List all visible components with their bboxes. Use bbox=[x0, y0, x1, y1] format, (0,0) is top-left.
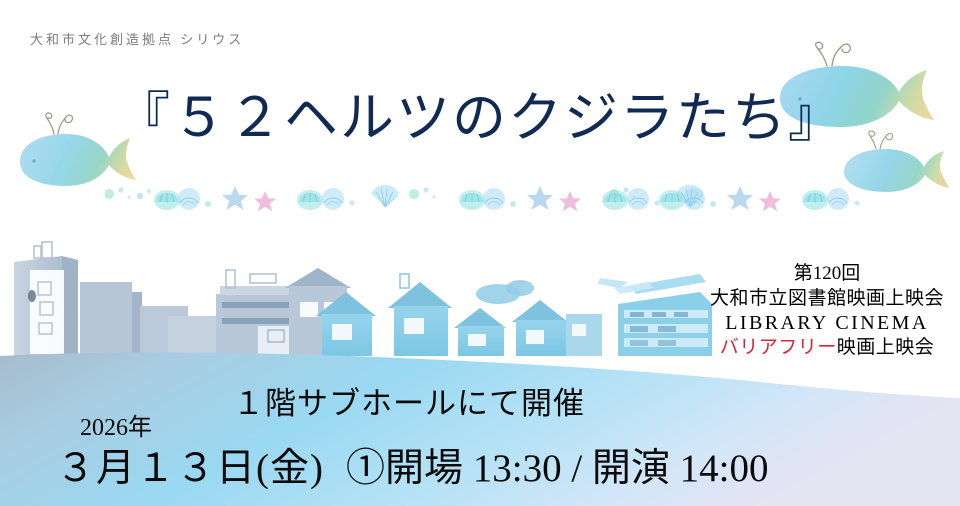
event-showtime: ①開場 13:30 / 開演 14:00 bbox=[346, 447, 769, 490]
series-edition: 第120回 bbox=[698, 264, 956, 283]
barrier-free-line: バリアフリー映画上映会 bbox=[698, 338, 956, 357]
series-info-block: 第120回 大和市立図書館映画上映会 LIBRARY CINEMA バリアフリー… bbox=[698, 264, 956, 357]
barrier-free-label: バリアフリー bbox=[720, 337, 837, 358]
event-poster: 大和市文化創造拠点 シリウス bbox=[0, 0, 960, 506]
organisation-name: 大和市文化創造拠点 シリウス bbox=[30, 29, 244, 48]
event-date: ３月１３日(金) bbox=[56, 447, 324, 490]
barrier-free-suffix: 映画上映会 bbox=[837, 337, 935, 358]
series-english-title: LIBRARY CINEMA bbox=[698, 313, 956, 333]
seashell-divider bbox=[105, 176, 865, 220]
event-date-time: ３月１３日(金)①開場 13:30 / 開演 14:00 bbox=[56, 437, 769, 493]
series-organiser: 大和市立図書館映画上映会 bbox=[698, 289, 956, 308]
venue-text: １階サブホールにて開催 bbox=[233, 378, 585, 423]
page-title: 『５２ヘルツのクジラたち』 bbox=[0, 90, 960, 147]
